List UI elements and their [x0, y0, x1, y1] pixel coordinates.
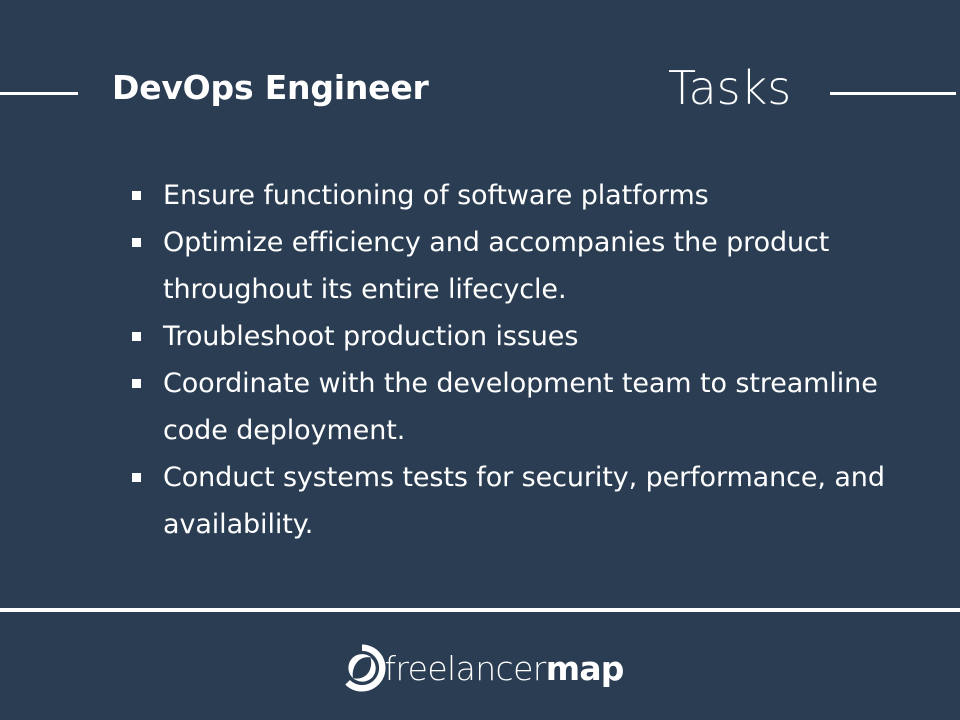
list-item-label: Ensure functioning of software platforms	[163, 172, 888, 219]
left-divider-rule	[0, 92, 78, 95]
page-title-role: DevOps Engineer	[112, 58, 429, 118]
slide-canvas: DevOps Engineer Tasks Ensure functioning…	[0, 0, 960, 720]
list-item-label: Optimize efficiency and accompanies the …	[163, 219, 888, 313]
square-bullet-icon	[132, 473, 141, 482]
list-item: Conduct systems tests for security, perf…	[128, 454, 888, 548]
tasks-bullet-list: Ensure functioning of software platforms…	[128, 172, 888, 548]
square-bullet-icon	[132, 379, 141, 388]
page-title-section: Tasks	[668, 52, 791, 124]
square-bullet-icon	[132, 191, 141, 200]
list-item: Troubleshoot production issues	[128, 313, 888, 360]
list-item-label: Conduct systems tests for security, perf…	[163, 454, 888, 548]
freelancermap-logo: freelancermap	[336, 642, 623, 694]
list-item-label: Coordinate with the development team to …	[163, 360, 888, 454]
logo-wordmark: freelancermap	[384, 652, 623, 685]
slide-header: DevOps Engineer Tasks	[0, 58, 960, 124]
slide-footer: freelancermap	[0, 612, 960, 720]
list-item: Optimize efficiency and accompanies the …	[128, 219, 888, 313]
square-bullet-icon	[132, 238, 141, 247]
freelancermap-circle-swirl-icon	[336, 642, 388, 694]
logo-word-freelancer: freelancer	[384, 652, 545, 685]
list-item: Coordinate with the development team to …	[128, 360, 888, 454]
list-item-label: Troubleshoot production issues	[163, 313, 888, 360]
right-divider-rule	[830, 92, 956, 95]
square-bullet-icon	[132, 332, 141, 341]
logo-word-map: map	[546, 652, 624, 685]
list-item: Ensure functioning of software platforms	[128, 172, 888, 219]
